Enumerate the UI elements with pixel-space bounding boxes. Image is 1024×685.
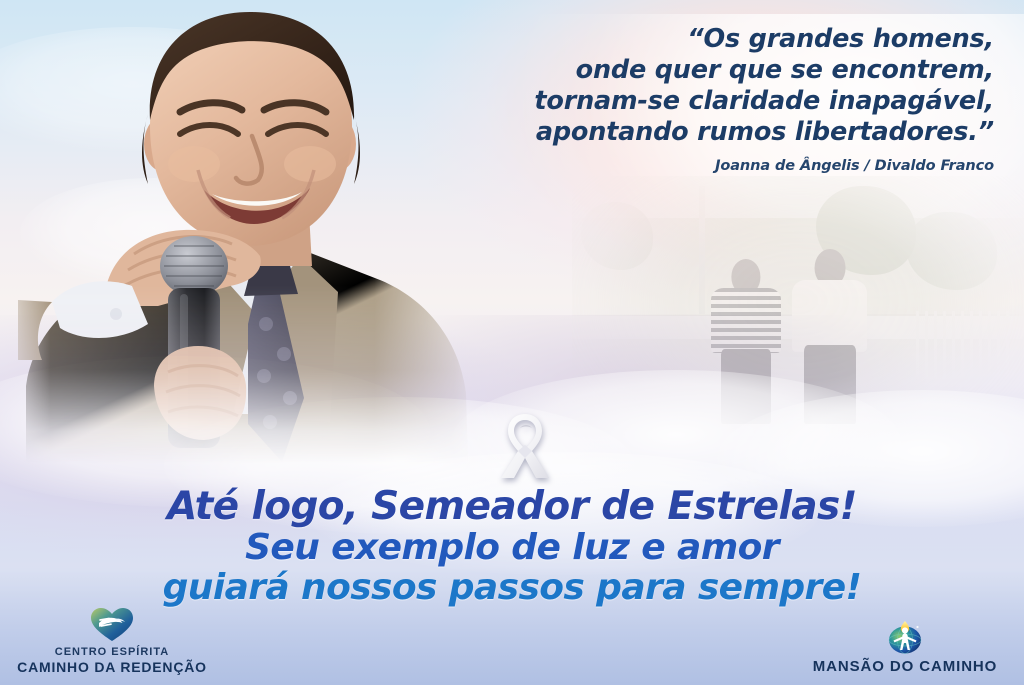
- logo-left-line-1: CENTRO ESPÍRITA: [14, 646, 210, 659]
- quote-line-2: onde quer que se encontrem,: [470, 55, 994, 86]
- quote-attribution: Joanna de Ângelis / Divaldo Franco: [470, 158, 994, 174]
- photo-person-striped-shirt: [708, 259, 785, 420]
- headline-line-1: Até logo, Semeador de Estrelas!: [0, 486, 1024, 528]
- logo-left-line-2: CAMINHO DA REDENÇÃO: [14, 659, 210, 675]
- quote-line-4: apontando rumos libertadores.”: [470, 117, 994, 148]
- photo-lamp-post: [699, 186, 705, 326]
- photo-person-white-shirt: [789, 249, 870, 421]
- photo-fence: [916, 311, 1015, 379]
- mourning-ribbon-icon: [487, 408, 563, 484]
- memorial-poster: “Os grandes homens, onde quer que se enc…: [0, 0, 1024, 685]
- headline-line-3: guiará nossos passos para sempre!: [0, 568, 1024, 608]
- headline-line-2: Seu exemplo de luz e amor: [0, 528, 1024, 568]
- logo-right-line-2: MANSÃO DO CAMINHO: [798, 659, 1012, 675]
- quote-line-1: “Os grandes homens,: [470, 24, 994, 55]
- quote-line-3: tornam-se claridade inapagável,: [470, 86, 994, 117]
- heart-hands-icon: [89, 607, 135, 643]
- quote-block: “Os grandes homens, onde quer que se enc…: [470, 24, 994, 174]
- logo-centro-espirita: CENTRO ESPÍRITA CAMINHO DA REDENÇÃO: [14, 607, 210, 675]
- portrait-photo-divaldo: [8, 0, 478, 464]
- headline-block: Até logo, Semeador de Estrelas! Seu exem…: [0, 486, 1024, 608]
- globe-figure-flame-icon: [883, 616, 927, 656]
- background-photo-walking-figures: [572, 176, 1024, 436]
- logo-mansao-do-caminho: MANSÃO DO CAMINHO: [798, 616, 1012, 675]
